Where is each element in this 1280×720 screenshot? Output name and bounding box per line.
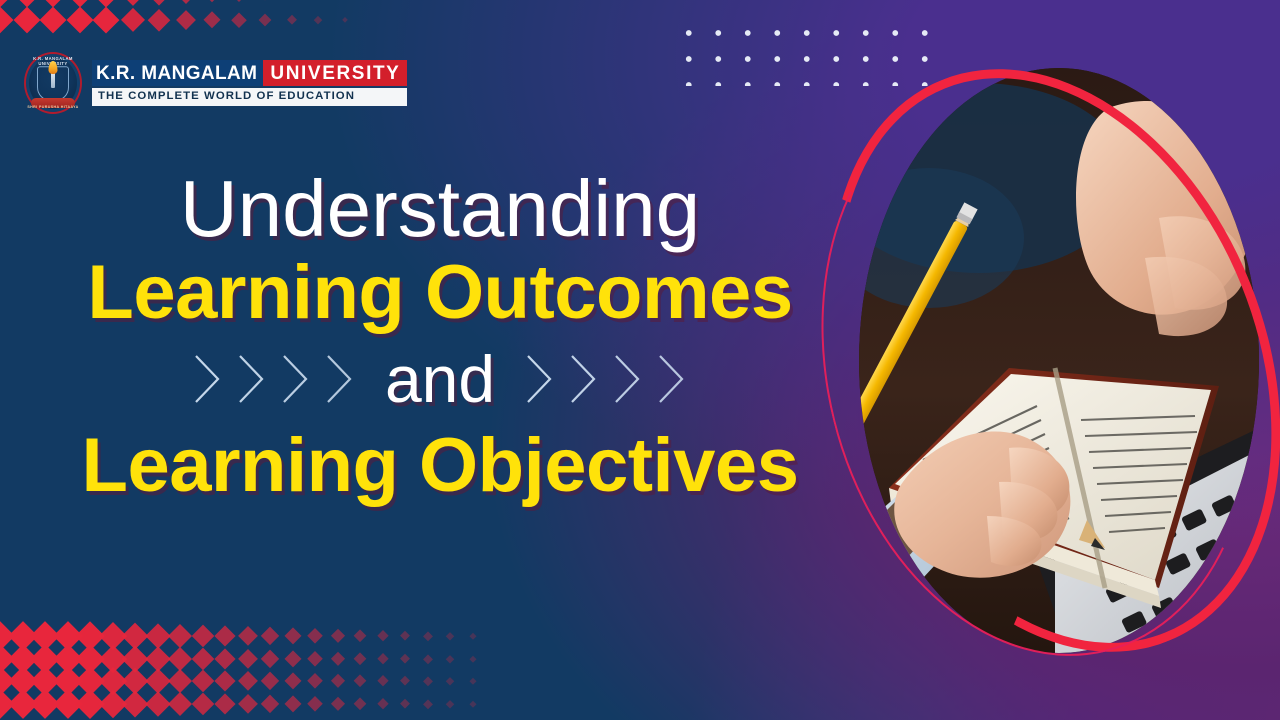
diamond-shape [191,670,214,693]
diamond-shape [191,692,214,715]
diamond-shape [145,668,170,693]
diamond-shape [446,677,454,685]
chevron-right-icon [563,350,605,408]
diamond-shape [53,644,83,674]
diamond-shape [53,689,83,719]
crest-torch-flame-icon [49,61,58,74]
diamond-shape [145,623,170,648]
diamond-shape [0,689,15,719]
diamond-shape [342,17,348,23]
chevron-group-left [187,350,361,408]
diamond-shape [214,648,235,669]
diamond-shape [231,0,246,2]
diamond-shape [214,670,235,691]
chevron-right-icon [607,350,649,408]
diamond-shape [330,629,345,644]
hero-photo [845,58,1265,663]
diamond-pattern-top-left [0,0,370,54]
diamond-shape [261,649,280,668]
diamond-shape [238,671,258,691]
diamond-shape [353,674,366,687]
diamond-shape [30,689,60,719]
diamond-shape [423,631,432,640]
wordmark-primary-name: K.R. MANGALAM [92,60,263,86]
diamond-shape [307,628,323,644]
headline-line-1: Understanding [40,168,840,250]
crest-torch-handle-icon [51,73,55,88]
headline-block: Understanding Learning Outcomes and Lear… [40,168,840,505]
diamond-shape [122,623,149,650]
chevron-right-icon [187,350,229,408]
chevron-group-right [519,350,693,408]
diamond-shape [400,653,411,664]
diamond-shape [259,14,272,27]
diamond-shape [0,7,13,34]
diamond-shape [30,621,60,651]
diamond-shape [168,691,192,715]
diamond-shape [469,655,476,662]
diamond-shape [423,676,432,685]
diamond-shape [93,7,120,34]
diamond-shape [122,668,149,695]
diamond-shape [446,655,454,663]
diamond-shape [446,632,454,640]
diamond-shape [286,15,296,25]
diamond-shape [284,695,301,712]
wordmark-tagline: THE COMPLETE WORLD OF EDUCATION [92,88,407,105]
diamond-shape [168,624,192,648]
diamond-shape [307,651,323,667]
wordmark-secondary-name: UNIVERSITY [263,60,407,86]
diamond-shape [284,650,301,667]
headline-connector: and [385,346,495,412]
diamond-shape [168,669,192,693]
diamond-shape [0,666,15,696]
diamond-shape [66,0,93,7]
diamond-shape [261,627,280,646]
headline-connector-row: and [40,331,840,427]
diamond-shape [353,697,366,710]
chevron-right-icon [319,350,361,408]
diamond-shape [30,666,60,696]
diamond-shape [446,700,454,708]
diamond-shape [400,698,411,709]
diamond-shape [8,644,38,674]
diamond-shape [98,644,126,672]
diamond-pattern-bottom-left [0,636,470,720]
diamond-shape [75,644,104,673]
diamond-shape [400,631,411,642]
diamond-shape [469,678,476,685]
diamond-shape [353,652,366,665]
diamond-shape [8,666,38,696]
diamond-shape [30,644,60,674]
university-logo[interactable]: K.R. MANGALAM UNIVERSITY SHRI PURUSHA HI… [24,52,407,114]
diamond-shape [469,633,476,640]
headline-line-3: Learning Objectives [40,427,840,505]
diamond-shape [120,8,144,32]
diamond-shape [75,689,104,718]
diamond-shape [148,0,170,5]
diamond-shape [122,690,149,717]
crest-ring-bottom-text: SHRI PURUSHA HITAAYA [24,105,82,109]
diamond-shape [8,621,38,651]
diamond-shape [176,10,196,30]
diamond-shape [75,666,104,695]
diamond-shape [93,0,120,7]
chevron-right-icon [519,350,561,408]
diamond-shape [314,16,322,24]
chevron-right-icon [651,350,693,408]
diamond-shape [353,629,366,642]
diamond-shape [330,651,345,666]
diamond-shape [191,647,214,670]
diamond-shape [330,674,345,689]
diamond-shape [0,0,13,7]
diamond-shape [238,694,258,714]
diamond-shape [284,672,301,689]
diamond-shape [145,691,170,716]
diamond-shape [377,630,389,642]
diamond-shape [203,11,220,28]
university-crest-icon: K.R. MANGALAM UNIVERSITY SHRI PURUSHA HI… [24,52,82,114]
diamond-shape [377,675,389,687]
diamond-shape [377,653,389,665]
chevron-right-icon [275,350,317,408]
diamond-shape [203,0,220,3]
diamond-shape [307,673,323,689]
diamond-shape [40,0,67,7]
diamond-shape [214,693,235,714]
diamond-shape [231,12,246,27]
diamond-shape [330,696,345,711]
diamond-shape [284,627,301,644]
diamond-shape [261,694,280,713]
diamond-shape [98,689,126,717]
diamond-shape [214,625,235,646]
diamond-shape [66,7,93,34]
diamond-shape [148,9,170,31]
university-wordmark: K.R. MANGALAM UNIVERSITY THE COMPLETE WO… [92,60,407,105]
diamond-shape [261,672,280,691]
diamond-shape [13,7,40,34]
diamond-shape [176,0,196,4]
diamond-shape [0,621,15,651]
diamond-shape [377,698,389,710]
diamond-shape [122,645,149,672]
diamond-shape [13,0,40,7]
chevron-right-icon [231,350,273,408]
diamond-shape [238,649,258,669]
diamond-shape [8,689,38,719]
diamond-shape [191,625,214,648]
diamond-shape [307,696,323,712]
diamond-shape [53,666,83,696]
diamond-shape [400,676,411,687]
diamond-shape [120,0,144,6]
diamond-shape [53,621,83,651]
diamond-shape [0,644,15,674]
diamond-shape [469,700,476,707]
headline-line-2: Learning Outcomes [40,254,840,332]
diamond-shape [75,621,104,650]
marketing-banner: K.R. MANGALAM UNIVERSITY SHRI PURUSHA HI… [0,0,1280,720]
diamond-shape [98,667,126,695]
diamond-shape [168,646,192,670]
diamond-shape [423,699,432,708]
diamond-shape [423,654,432,663]
diamond-shape [145,646,170,671]
diamond-shape [40,7,67,34]
diamond-shape [238,626,258,646]
wordmark-top-row: K.R. MANGALAM UNIVERSITY [92,60,407,86]
diamond-shape [98,622,126,650]
